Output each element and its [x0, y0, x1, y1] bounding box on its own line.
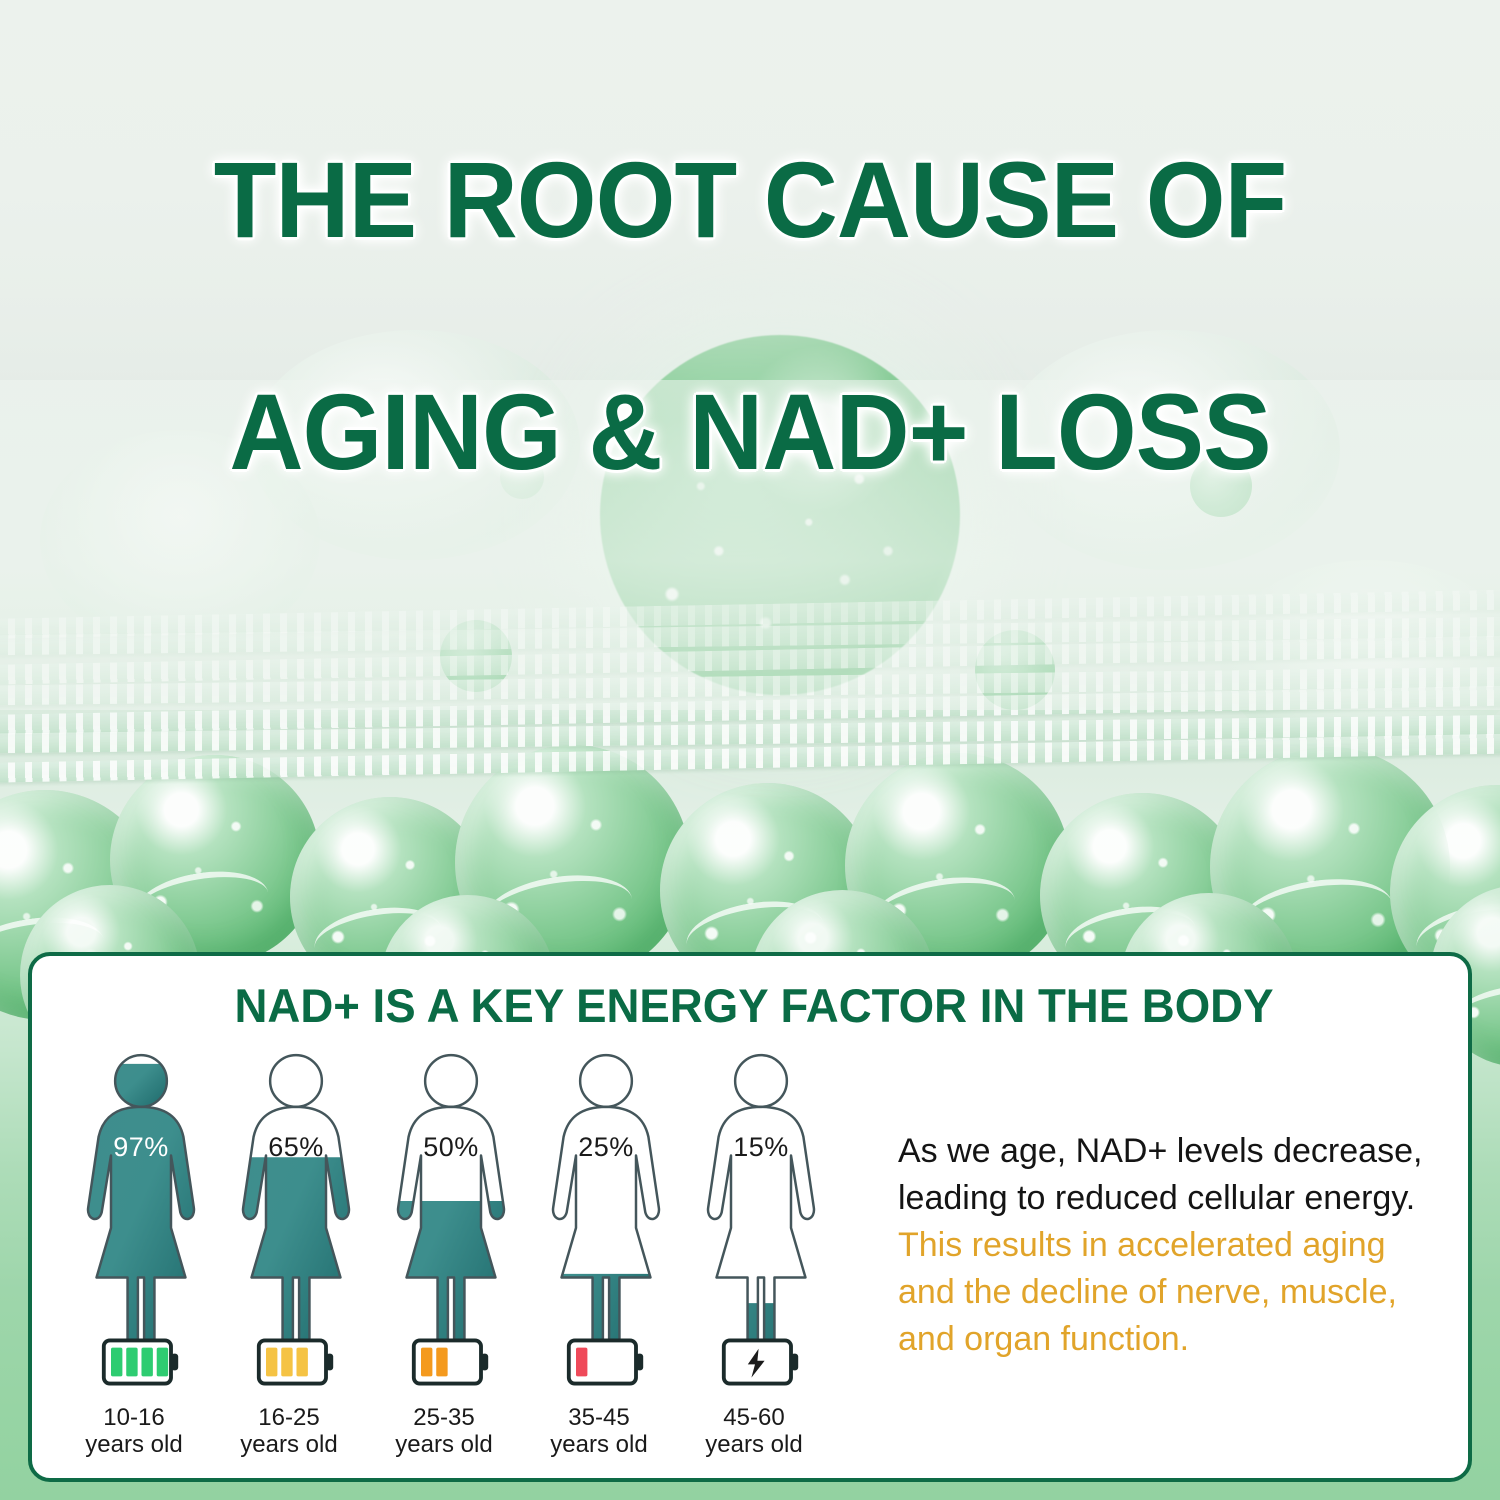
figure-column: 15% [686, 1052, 836, 1352]
age-label: 45-60years old [674, 1404, 834, 1458]
person-figure [686, 1052, 836, 1352]
paragraph-line-2: leading to reduced cellular energy. [898, 1175, 1458, 1222]
person-figure [221, 1052, 371, 1352]
figure-row: 97% [66, 1052, 872, 1352]
infographic-canvas: THE ROOT CAUSE OF AGING & NAD+ LOSS NAD+… [0, 0, 1500, 1500]
battery-column [531, 1338, 681, 1391]
person-figure [531, 1052, 681, 1352]
battery-row [66, 1338, 872, 1398]
person-figure [66, 1052, 216, 1352]
age-range: 45-60 [674, 1404, 834, 1431]
figure-percent-label: 50% [376, 1132, 526, 1163]
figure-percent-label: 65% [221, 1132, 371, 1163]
battery-3-bars-yellow [256, 1338, 336, 1386]
figure-percent-label: 97% [66, 1132, 216, 1163]
info-panel: NAD+ IS A KEY ENERGY FACTOR IN THE BODY [28, 952, 1472, 1482]
age-label: 35-45years old [519, 1404, 679, 1458]
age-unit: years old [364, 1431, 524, 1458]
battery-4-bars-green [101, 1338, 181, 1386]
figure-column: 50% [376, 1052, 526, 1352]
figure-percent-label: 25% [531, 1132, 681, 1163]
age-label-row: 10-16years old16-25years old25-35years o… [54, 1404, 874, 1474]
age-label: 16-25years old [209, 1404, 369, 1458]
battery-column [376, 1338, 526, 1391]
figure-column: 65% [221, 1052, 371, 1352]
battery-column [221, 1338, 371, 1391]
page-title-line-1: THE ROOT CAUSE OF [38, 142, 1463, 258]
figure-column: 25% [531, 1052, 681, 1352]
battery-column [686, 1338, 836, 1391]
age-label: 25-35years old [364, 1404, 524, 1458]
figure-percent-label: 15% [686, 1132, 836, 1163]
panel-heading: NAD+ IS A KEY ENERGY FACTOR IN THE BODY [54, 978, 1455, 1033]
person-figure [376, 1052, 526, 1352]
age-range: 10-16 [54, 1404, 214, 1431]
figure-column: 97% [66, 1052, 216, 1352]
paragraph-highlight-line-2: and the decline of nerve, muscle, [898, 1269, 1458, 1316]
battery-2-bars-orange [411, 1338, 491, 1386]
paragraph-highlight-line-3: and organ function. [898, 1316, 1458, 1363]
age-range: 16-25 [209, 1404, 369, 1431]
age-unit: years old [54, 1431, 214, 1458]
age-unit: years old [674, 1431, 834, 1458]
battery-column [66, 1338, 216, 1391]
battery-charging-bolt [721, 1338, 801, 1386]
page-title: THE ROOT CAUSE OF AGING & NAD+ LOSS [38, 26, 1463, 606]
age-label: 10-16years old [54, 1404, 214, 1458]
paragraph-highlight-line-1: This results in accelerated aging [898, 1222, 1458, 1269]
paragraph-line-1: As we age, NAD+ levels decrease, [898, 1128, 1458, 1175]
age-range: 35-45 [519, 1404, 679, 1431]
description-paragraph: As we age, NAD+ levels decrease, leading… [898, 1128, 1458, 1363]
page-title-line-2: AGING & NAD+ LOSS [38, 374, 1463, 490]
battery-1-bar-red [566, 1338, 646, 1386]
age-unit: years old [209, 1431, 369, 1458]
age-range: 25-35 [364, 1404, 524, 1431]
age-unit: years old [519, 1431, 679, 1458]
